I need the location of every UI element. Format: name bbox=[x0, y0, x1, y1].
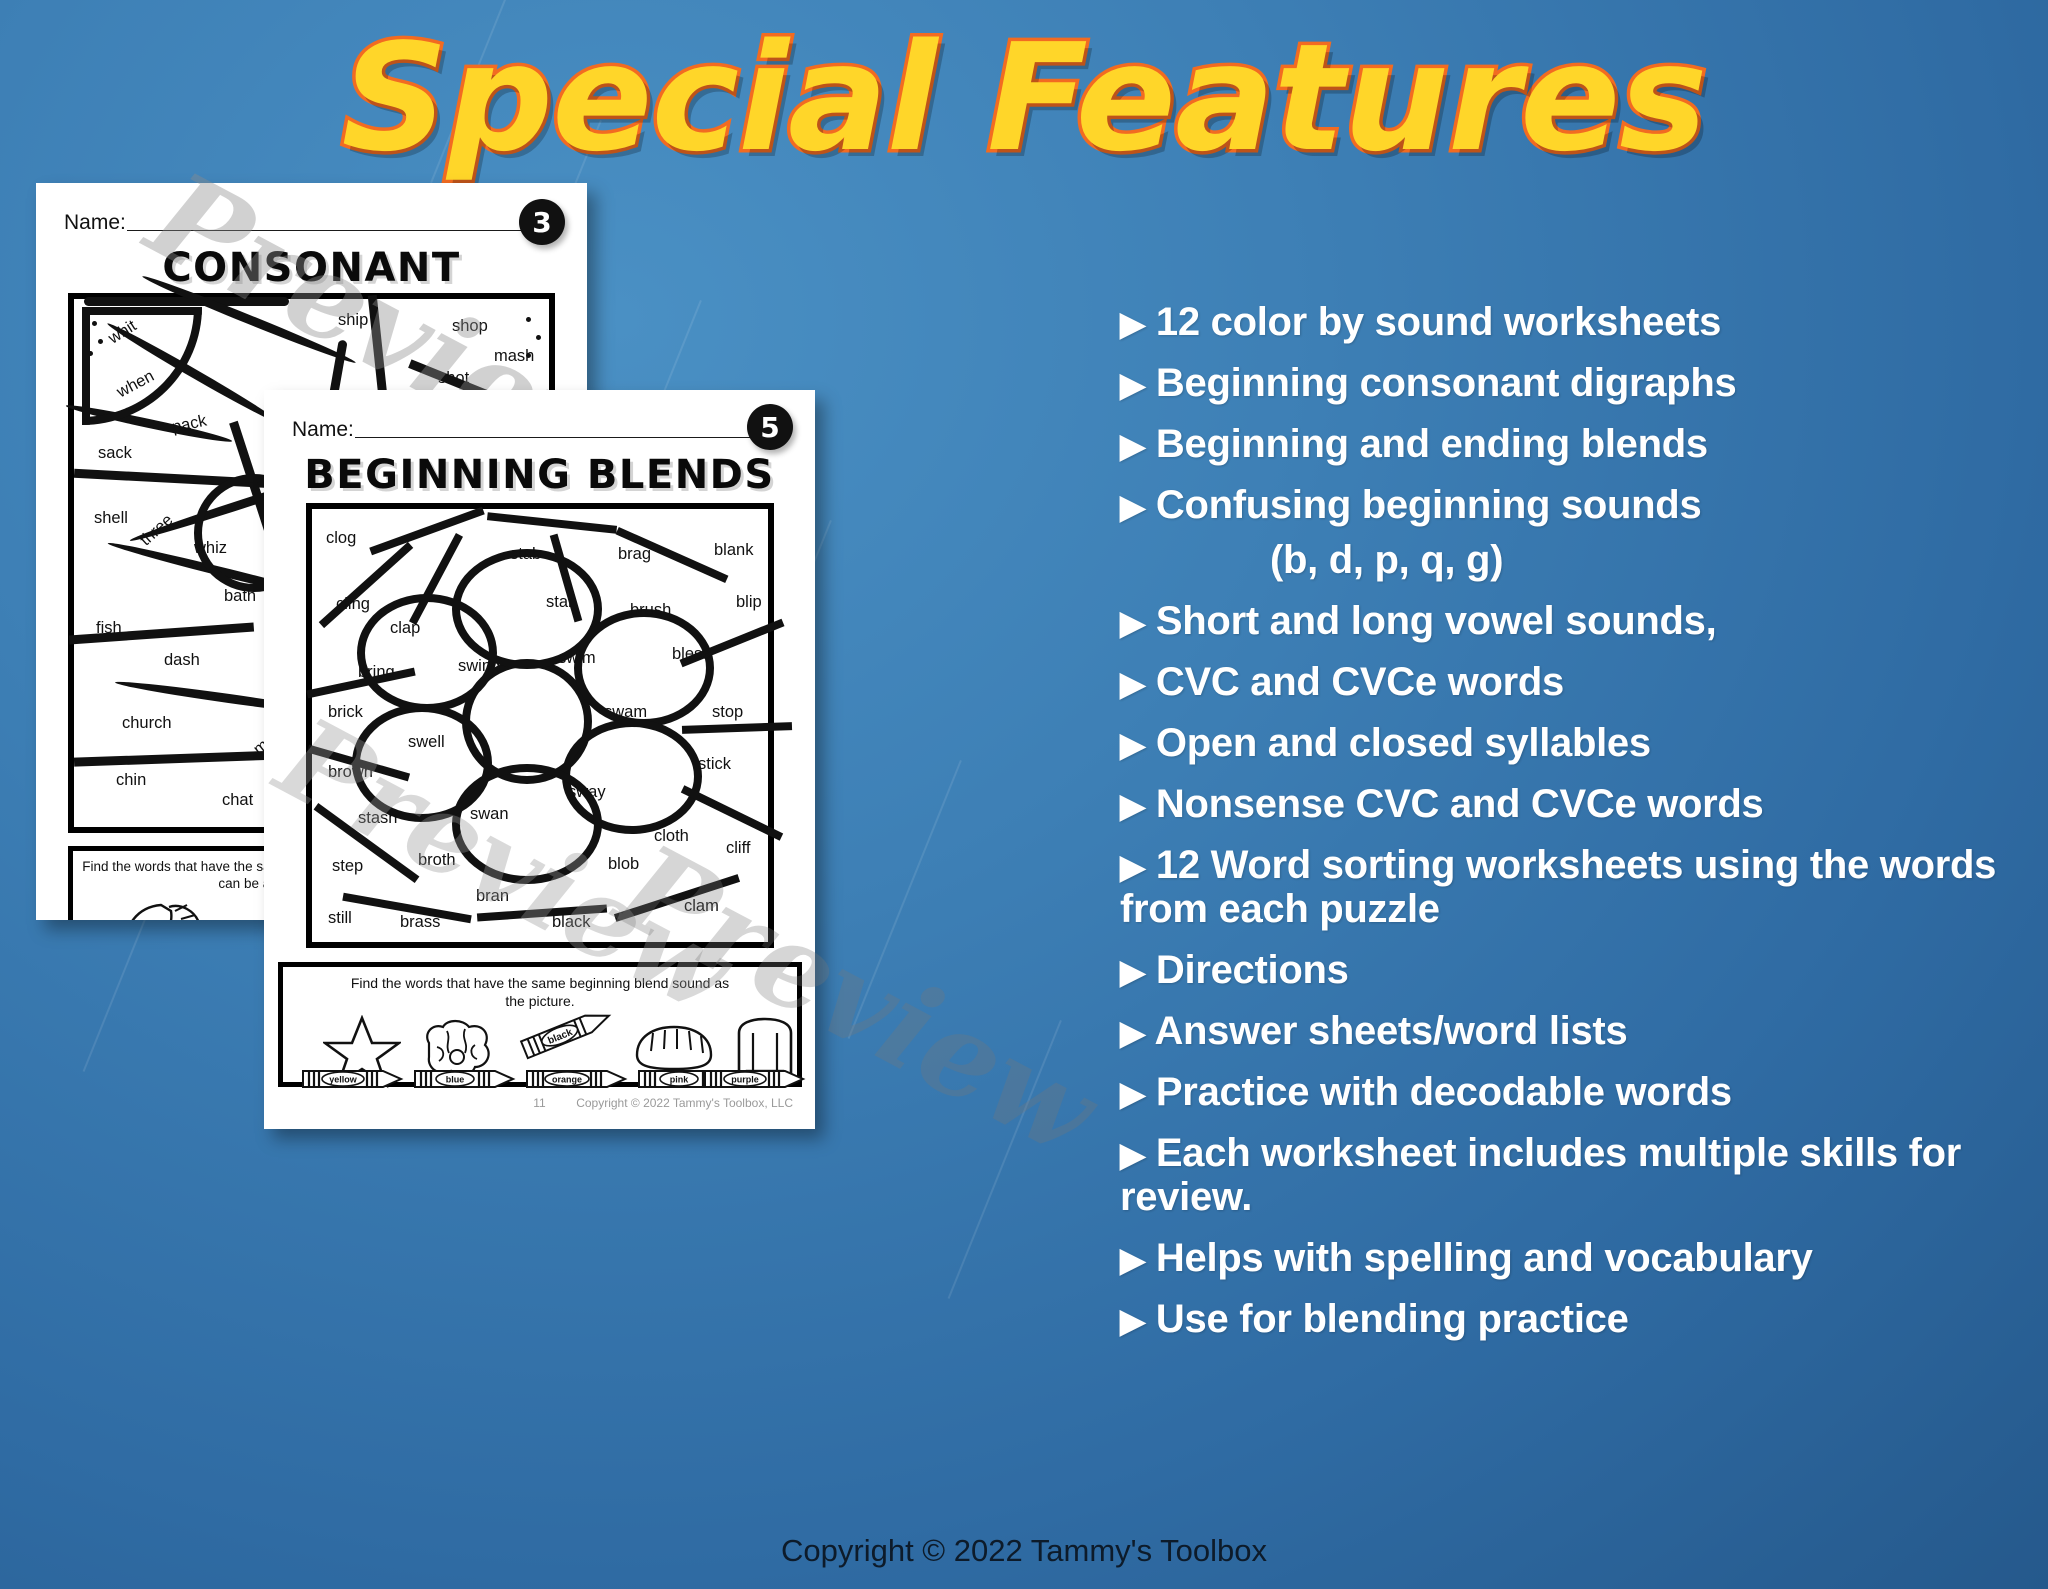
feature-item: ▶ 12 color by sound worksheets bbox=[1120, 300, 2020, 344]
puzzle-word: sway bbox=[568, 783, 606, 802]
puzzle-word: stab bbox=[510, 545, 541, 564]
feature-text: Each worksheet includes multiple skills … bbox=[1120, 1131, 1961, 1219]
puzzle-word: still bbox=[328, 909, 352, 928]
feature-item: ▶ Practice with decodable words bbox=[1120, 1070, 2020, 1114]
feature-item: ▶ Answer sheets/word lists bbox=[1120, 1009, 2020, 1053]
feature-text: Answer sheets/word lists bbox=[1154, 1009, 1627, 1053]
puzzle-word: bath bbox=[224, 587, 256, 606]
triangle-bullet-icon: ▶ bbox=[1120, 848, 1145, 885]
puzzle-word: brag bbox=[618, 545, 651, 564]
puzzle-word: swim bbox=[558, 649, 596, 668]
puzzle-word: stash bbox=[358, 809, 397, 828]
puzzle-word: sack bbox=[98, 444, 132, 463]
feature-item: ▶ Short and long vowel sounds, bbox=[1120, 599, 2020, 643]
feature-item: ▶ Helps with spelling and vocabulary bbox=[1120, 1236, 2020, 1280]
feature-text: CVC and CVCe words bbox=[1156, 660, 1564, 704]
page-badge-5: 5 bbox=[747, 404, 793, 450]
puzzle-word: brush bbox=[630, 601, 671, 620]
puzzle-word: chin bbox=[116, 771, 146, 790]
puzzle-word: brown bbox=[328, 763, 373, 782]
feature-text: Confusing beginning sounds bbox=[1156, 483, 1701, 527]
puzzle-word: ship bbox=[338, 311, 368, 330]
svg-text:orange: orange bbox=[552, 1075, 582, 1085]
puzzle-word: chat bbox=[222, 791, 253, 810]
feature-item: ▶ CVC and CVCe words bbox=[1120, 660, 2020, 704]
worksheet2-puzzle[interactable]: clog stab brag blank cling star brush bl… bbox=[306, 503, 774, 948]
page-title: Special Features bbox=[342, 24, 1707, 172]
puzzle-word: shell bbox=[94, 509, 128, 528]
puzzle-word: star bbox=[546, 593, 574, 612]
puzzle-word: cling bbox=[336, 595, 370, 614]
puzzle-word: bring bbox=[358, 663, 395, 682]
feature-text: 12 Word sorting worksheets using the wor… bbox=[1120, 843, 1996, 931]
name-input-line[interactable] bbox=[127, 230, 557, 231]
puzzle-word: clam bbox=[684, 897, 719, 916]
crayon-orange: orange bbox=[525, 1067, 631, 1091]
svg-text:blue: blue bbox=[446, 1075, 465, 1085]
triangle-bullet-icon: ▶ bbox=[1120, 427, 1145, 464]
feature-text: Practice with decodable words bbox=[1156, 1070, 1732, 1114]
svg-text:purple: purple bbox=[731, 1075, 759, 1085]
triangle-bullet-icon: ▶ bbox=[1120, 726, 1145, 763]
feature-item: ▶ Directions bbox=[1120, 948, 2020, 992]
puzzle-word: fish bbox=[96, 619, 122, 638]
puzzle-word: blob bbox=[608, 855, 639, 874]
puzzle-word: swell bbox=[408, 733, 445, 752]
puzzle-word: stick bbox=[698, 755, 731, 774]
puzzle-word: shot bbox=[438, 369, 469, 388]
page-badge-3: 3 bbox=[519, 199, 565, 245]
puzzle-word: shop bbox=[452, 317, 488, 336]
puzzle-word: cliff bbox=[726, 839, 750, 858]
puzzle-word: step bbox=[332, 857, 363, 876]
feature-item: ▶ Beginning and ending blends bbox=[1120, 422, 2020, 466]
worksheet2-instruction-box: Find the words that have the same beginn… bbox=[278, 962, 802, 1087]
feature-text: Beginning and ending blends bbox=[1156, 422, 1708, 466]
worksheet2-instruction-line1: Find the words that have the same beginn… bbox=[289, 975, 791, 993]
feature-text: Helps with spelling and vocabulary bbox=[1156, 1236, 1813, 1280]
puzzle-word: clog bbox=[326, 529, 356, 548]
puzzle-word: dash bbox=[164, 651, 200, 670]
name-label: Name: bbox=[292, 418, 354, 442]
feature-text: 12 color by sound worksheets bbox=[1156, 300, 1721, 344]
name-label: Name: bbox=[64, 211, 126, 235]
puzzle-word: mash bbox=[494, 347, 534, 366]
triangle-bullet-icon: ▶ bbox=[1120, 488, 1145, 525]
feature-text: Use for blending practice bbox=[1156, 1297, 1629, 1341]
triangle-bullet-icon: ▶ bbox=[1120, 1302, 1145, 1339]
puzzle-word: bless bbox=[672, 645, 711, 664]
triangle-bullet-icon: ▶ bbox=[1120, 1136, 1145, 1173]
worksheet2-copyright: Copyright © 2022 Tammy's Toolbox, LLC bbox=[576, 1096, 793, 1110]
puzzle-word: blip bbox=[736, 593, 762, 612]
feature-item: ▶ 12 Word sorting worksheets using the w… bbox=[1120, 843, 2020, 931]
feature-item: ▶ Each worksheet includes multiple skill… bbox=[1120, 1131, 2020, 1219]
puzzle-word: swan bbox=[470, 805, 509, 824]
puzzle-word: black bbox=[552, 913, 591, 932]
triangle-bullet-icon: ▶ bbox=[1120, 366, 1145, 403]
puzzle-word: clap bbox=[390, 619, 420, 638]
triangle-bullet-icon: ▶ bbox=[1120, 1014, 1145, 1051]
triangle-bullet-icon: ▶ bbox=[1120, 305, 1145, 342]
puzzle-word: cloth bbox=[654, 827, 689, 846]
feature-item: ▶ Beginning consonant digraphs bbox=[1120, 361, 2020, 405]
feature-text: Beginning consonant digraphs bbox=[1156, 361, 1737, 405]
puzzle-word: whiz bbox=[194, 539, 227, 558]
puzzle-word: stop bbox=[712, 703, 743, 722]
page-title-wrap: Special Features bbox=[0, 24, 2048, 172]
feature-item: ▶ Confusing beginning sounds bbox=[1120, 483, 2020, 527]
puzzle-word: swing bbox=[458, 657, 500, 676]
worksheet-beginning-blends[interactable]: Name: 5 BEGINNING BLENDS clog stab brag bbox=[264, 390, 815, 1129]
triangle-bullet-icon: ▶ bbox=[1120, 665, 1145, 702]
puzzle-word: church bbox=[122, 714, 172, 733]
puzzle-word: bran bbox=[476, 887, 509, 906]
name-field-row: Name: bbox=[292, 418, 785, 442]
features-list: ▶ 12 color by sound worksheets ▶ Beginni… bbox=[1120, 300, 2020, 1358]
puzzle-word: swam bbox=[604, 703, 647, 722]
worksheet2-instruction-line2: the picture. bbox=[289, 993, 791, 1011]
crayon-blue: blue bbox=[413, 1067, 519, 1091]
shell-picture bbox=[115, 897, 209, 920]
feature-item: ▶ Nonsense CVC and CVCe words bbox=[1120, 782, 2020, 826]
puzzle-word: blank bbox=[714, 541, 753, 560]
feature-text: (b, d, p, q, g) bbox=[1270, 538, 1503, 582]
triangle-bullet-icon: ▶ bbox=[1120, 953, 1145, 990]
bottom-copyright: Copyright © 2022 Tammy's Toolbox bbox=[0, 1533, 2048, 1569]
feature-item-sub: (b, d, p, q, g) bbox=[1120, 538, 2020, 582]
name-field-row: Name: bbox=[64, 211, 557, 235]
feature-item: ▶ Use for blending practice bbox=[1120, 1297, 2020, 1341]
crayon-purple: purple bbox=[703, 1067, 809, 1091]
worksheet2-heading: BEGINNING BLENDS bbox=[264, 452, 815, 498]
crayon-yellow: yellow bbox=[301, 1067, 407, 1091]
puzzle-word: broth bbox=[418, 851, 456, 870]
triangle-bullet-icon: ▶ bbox=[1120, 1075, 1145, 1112]
triangle-bullet-icon: ▶ bbox=[1120, 1241, 1145, 1278]
feature-text: Open and closed syllables bbox=[1156, 721, 1651, 765]
name-input-line[interactable] bbox=[355, 437, 785, 438]
triangle-bullet-icon: ▶ bbox=[1120, 604, 1145, 641]
feature-text: Directions bbox=[1156, 948, 1349, 992]
triangle-bullet-icon: ▶ bbox=[1120, 787, 1145, 824]
petal bbox=[357, 594, 497, 712]
svg-text:yellow: yellow bbox=[329, 1075, 358, 1085]
svg-text:pink: pink bbox=[670, 1075, 689, 1085]
shell-arc bbox=[82, 307, 202, 425]
feature-text: Nonsense CVC and CVCe words bbox=[1156, 782, 1764, 826]
feature-text: Short and long vowel sounds, bbox=[1156, 599, 1717, 643]
puzzle-word: brick bbox=[328, 703, 363, 722]
feature-item: ▶ Open and closed syllables bbox=[1120, 721, 2020, 765]
puzzle-word: brass bbox=[400, 913, 440, 932]
